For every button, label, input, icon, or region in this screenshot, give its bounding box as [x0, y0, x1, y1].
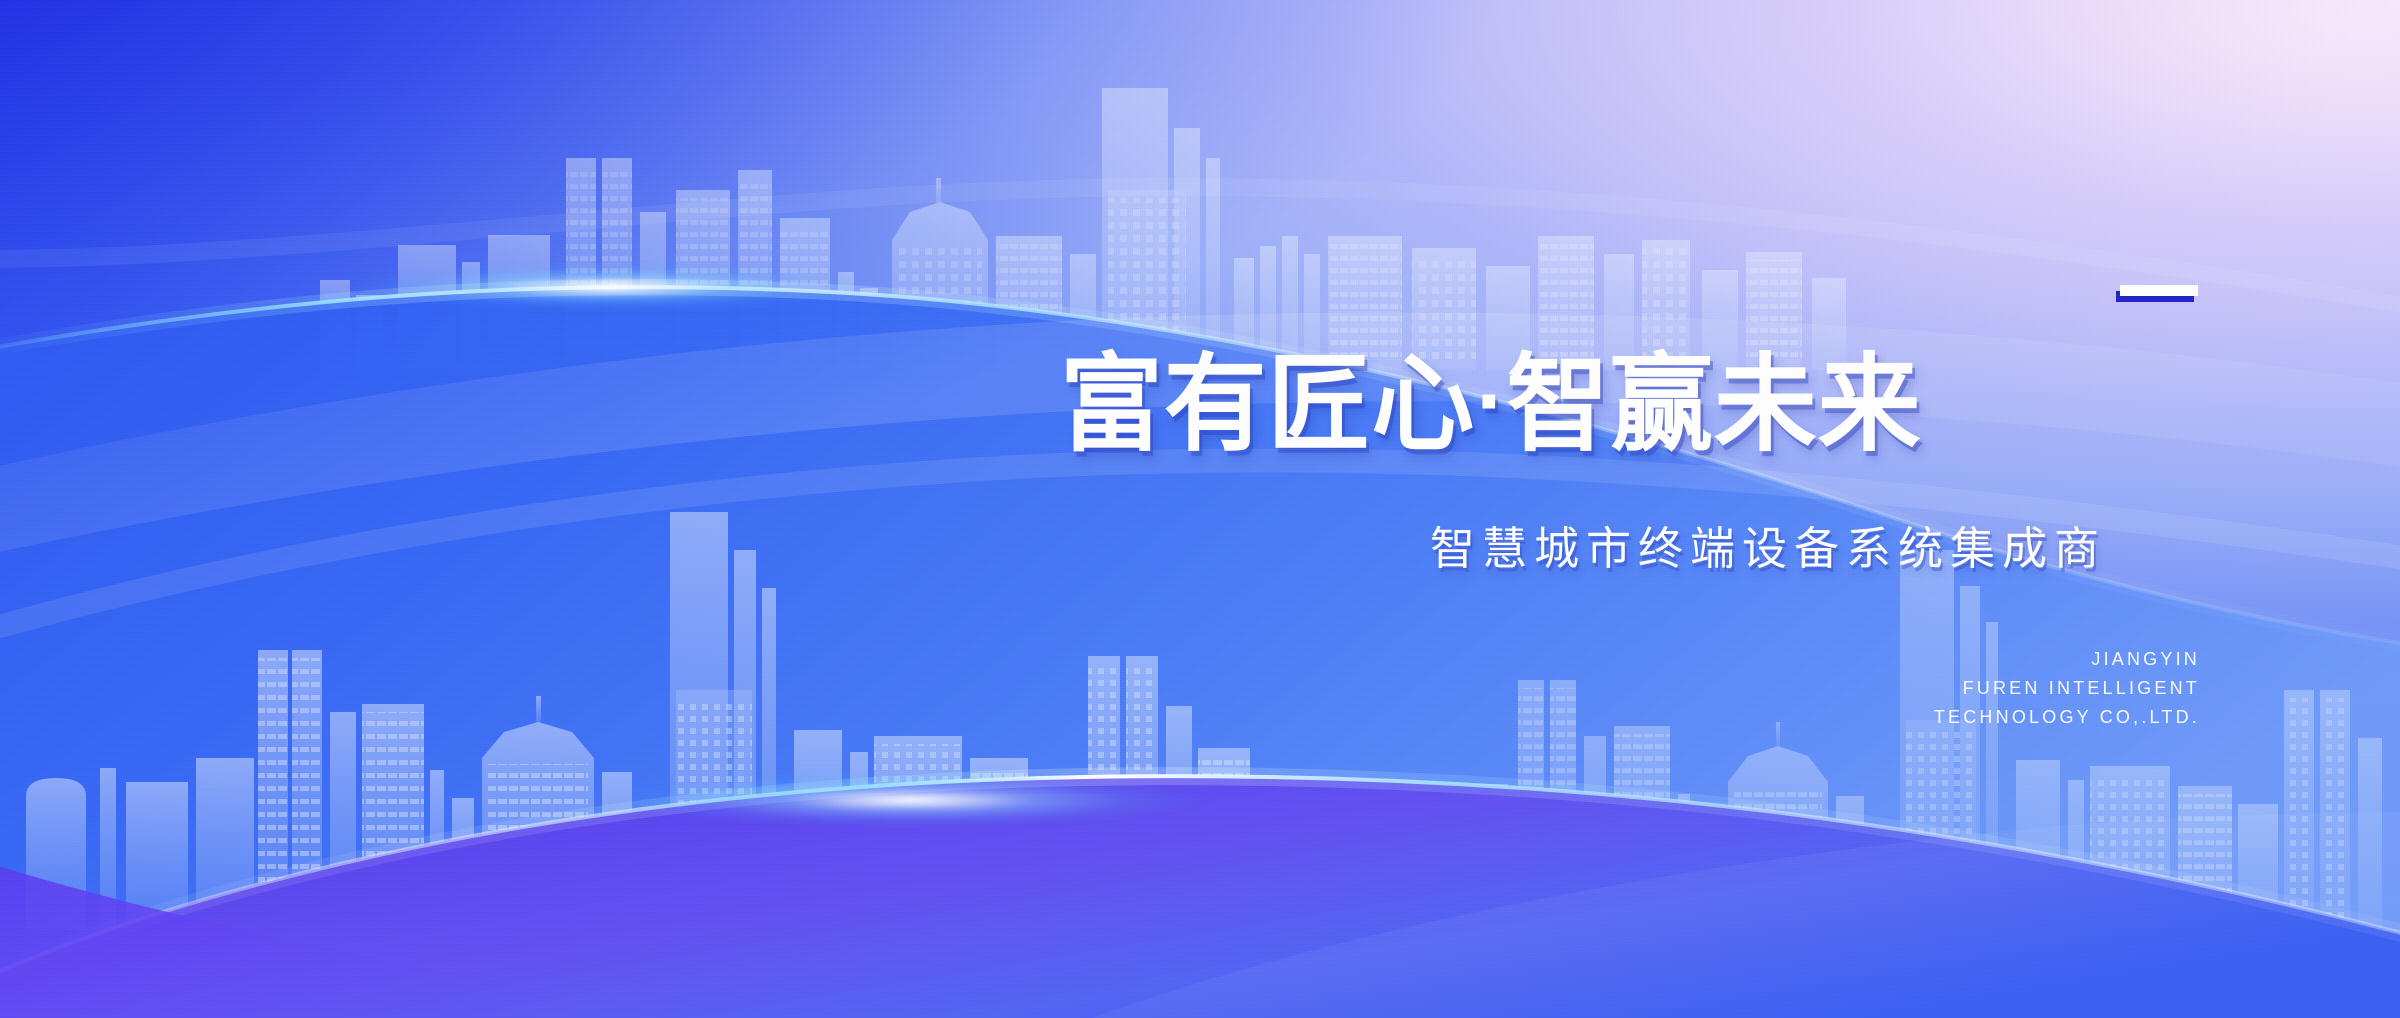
company-line-city: JIANGYIN — [1700, 645, 2200, 674]
headline-part-one: 富有匠心 — [1060, 343, 1475, 466]
company-line-name: FUREN INTELLIGENT — [1700, 674, 2200, 703]
company-name-block: JIANGYIN FUREN INTELLIGENT TECHNOLOGY CO… — [1700, 645, 2200, 732]
company-line-suffix: TECHNOLOGY CO,.LTD. — [1700, 703, 2200, 732]
accent-dash-icon — [2120, 285, 2198, 296]
page-subtitle: 智慧城市终端设备系统集成商 — [1430, 512, 2106, 577]
promotional-banner: 富有匠心·智赢未来 智慧城市终端设备系统集成商 JIANGYIN FUREN I… — [0, 0, 2400, 1018]
text-content-zone: 富有匠心·智赢未来 智慧城市终端设备系统集成商 JIANGYIN FUREN I… — [0, 0, 2400, 1018]
page-title: 富有匠心·智赢未来 — [1060, 352, 2176, 458]
headline-separator-dot: · — [1475, 359, 1506, 445]
headline-part-two: 智赢未来 — [1506, 343, 1921, 466]
